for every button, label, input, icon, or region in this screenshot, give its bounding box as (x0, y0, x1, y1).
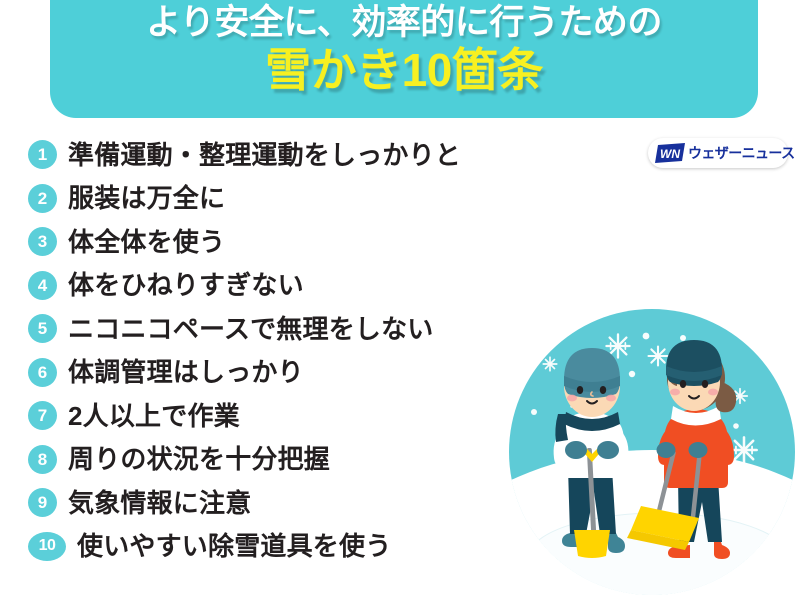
list-item: 5 ニコニコペースで無理をしない (28, 307, 548, 351)
weathernews-logo: WN ウェザーニュース (648, 138, 788, 168)
list-item-label: 準備運動・整理運動をしっかりと (68, 140, 461, 170)
girl-left-cheek (670, 389, 680, 396)
list-item-number: 5 (28, 314, 57, 343)
weathernews-brand-label: ウェザーニュース (688, 146, 795, 160)
list-item-number: 9 (28, 488, 57, 517)
list-item-number: 4 (28, 271, 57, 300)
list-item-label: 体調管理はしっかり (68, 357, 304, 387)
boy-right-mitten (597, 441, 619, 459)
snow-dot (680, 335, 686, 341)
list-item: 10 使いやすい除雪道具を使う (28, 525, 548, 569)
list-item-number: 6 (28, 358, 57, 387)
list-item: 9 気象情報に注意 (28, 481, 548, 525)
snow-shoveling-illustration (508, 308, 796, 596)
list-item-label: 2人以上で作業 (68, 401, 240, 431)
snowflake-icon (543, 357, 557, 371)
snow-dot (733, 423, 739, 429)
list-item-label: 服装は万全に (68, 183, 225, 213)
list-item: 3 体全体を使う (28, 220, 548, 264)
boy-right-eye (600, 386, 606, 394)
list-item-number: 1 (28, 140, 57, 169)
boy-left-eye (577, 386, 583, 394)
list-item: 1 準備運動・整理運動をしっかりと (28, 133, 548, 177)
list-item-number: 8 (28, 445, 57, 474)
wn-mark-icon: WN (655, 143, 685, 163)
illustration-svg (508, 308, 796, 596)
boy-left-cheek (567, 395, 577, 402)
snowflake-icon (649, 347, 668, 366)
svg-text:WN: WN (660, 147, 680, 161)
list-item-label: 気象情報に注意 (68, 488, 251, 518)
header-banner: より安全に、効率的に行うための 雪かき10箇条 (50, 0, 758, 118)
header-subtitle: より安全に、効率的に行うための (50, 2, 758, 44)
list-item: 6 体調管理はしっかり (28, 351, 548, 395)
snowflake-icon (731, 437, 756, 462)
header-title: 雪かき10箇条 (50, 44, 758, 96)
illustration-scene (508, 308, 796, 596)
snow-dot (643, 333, 650, 340)
boy-shovel-blade (574, 530, 610, 558)
snow-dot (531, 409, 537, 415)
girl-left-eye (680, 380, 686, 388)
list-item-number: 10 (28, 532, 66, 561)
list-item-label: 体をひねりすぎない (68, 270, 304, 300)
list-item: 4 体をひねりすぎない (28, 264, 548, 308)
list-item-number: 2 (28, 184, 57, 213)
boy-right-cheek (606, 395, 616, 402)
list-item-label: 周りの状況を十分把握 (68, 444, 330, 474)
list-item: 7 2人以上で作業 (28, 394, 548, 438)
list-item-label: 使いやすい除雪道具を使う (77, 531, 391, 561)
girl-left-mitten (657, 442, 676, 458)
girl-right-mitten (689, 442, 708, 458)
boy-left-mitten (565, 441, 587, 459)
list-item-label: ニコニコペースで無理をしない (68, 314, 434, 344)
list-item: 8 周りの状況を十分把握 (28, 438, 548, 482)
list-item-label: 体全体を使う (68, 227, 225, 257)
list-item: 2 服装は万全に (28, 177, 548, 221)
infographic-page: より安全に、効率的に行うための 雪かき10箇条 WN ウェザーニュース 1 準備… (0, 0, 800, 600)
snow-dot (629, 371, 635, 377)
girl-right-cheek (708, 389, 718, 396)
tips-list: 1 準備運動・整理運動をしっかりと 2 服装は万全に 3 体全体を使う 4 体を… (28, 133, 548, 568)
girl-right-eye (702, 380, 708, 388)
list-item-number: 7 (28, 401, 57, 430)
snow-dot (737, 483, 743, 489)
list-item-number: 3 (28, 227, 57, 256)
